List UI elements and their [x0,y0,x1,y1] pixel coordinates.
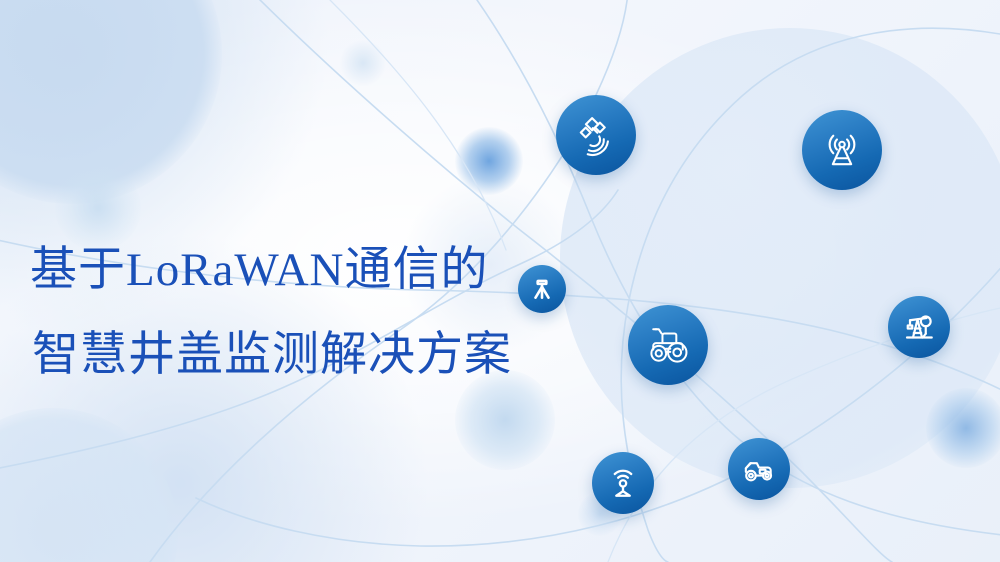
satellite-signal-icon [574,113,618,157]
node-radio-tower[interactable] [802,110,882,190]
radio-tower-icon [820,128,864,172]
node-survey-tripod[interactable] [518,265,566,313]
node-wireless-sensor[interactable] [592,452,654,514]
survey-tripod-icon [529,276,555,302]
tractor-icon [644,321,692,369]
oil-pumpjack-icon [901,309,937,345]
node-harvester-vehicle[interactable] [728,438,790,500]
wireless-sensor-icon [605,465,641,501]
node-satellite[interactable] [556,95,636,175]
title-line-1: 基于LoRaWAN通信的 [30,228,512,313]
harvester-vehicle-icon [740,450,778,488]
title-line-2: 智慧井盖监测解决方案 [30,313,512,398]
slide-title: 基于LoRaWAN通信的 智慧井盖监测解决方案 [30,228,512,398]
node-tractor[interactable] [628,305,708,385]
node-oil-pumpjack[interactable] [888,296,950,358]
presentation-cover-slide: 基于LoRaWAN通信的 智慧井盖监测解决方案 [0,0,1000,562]
